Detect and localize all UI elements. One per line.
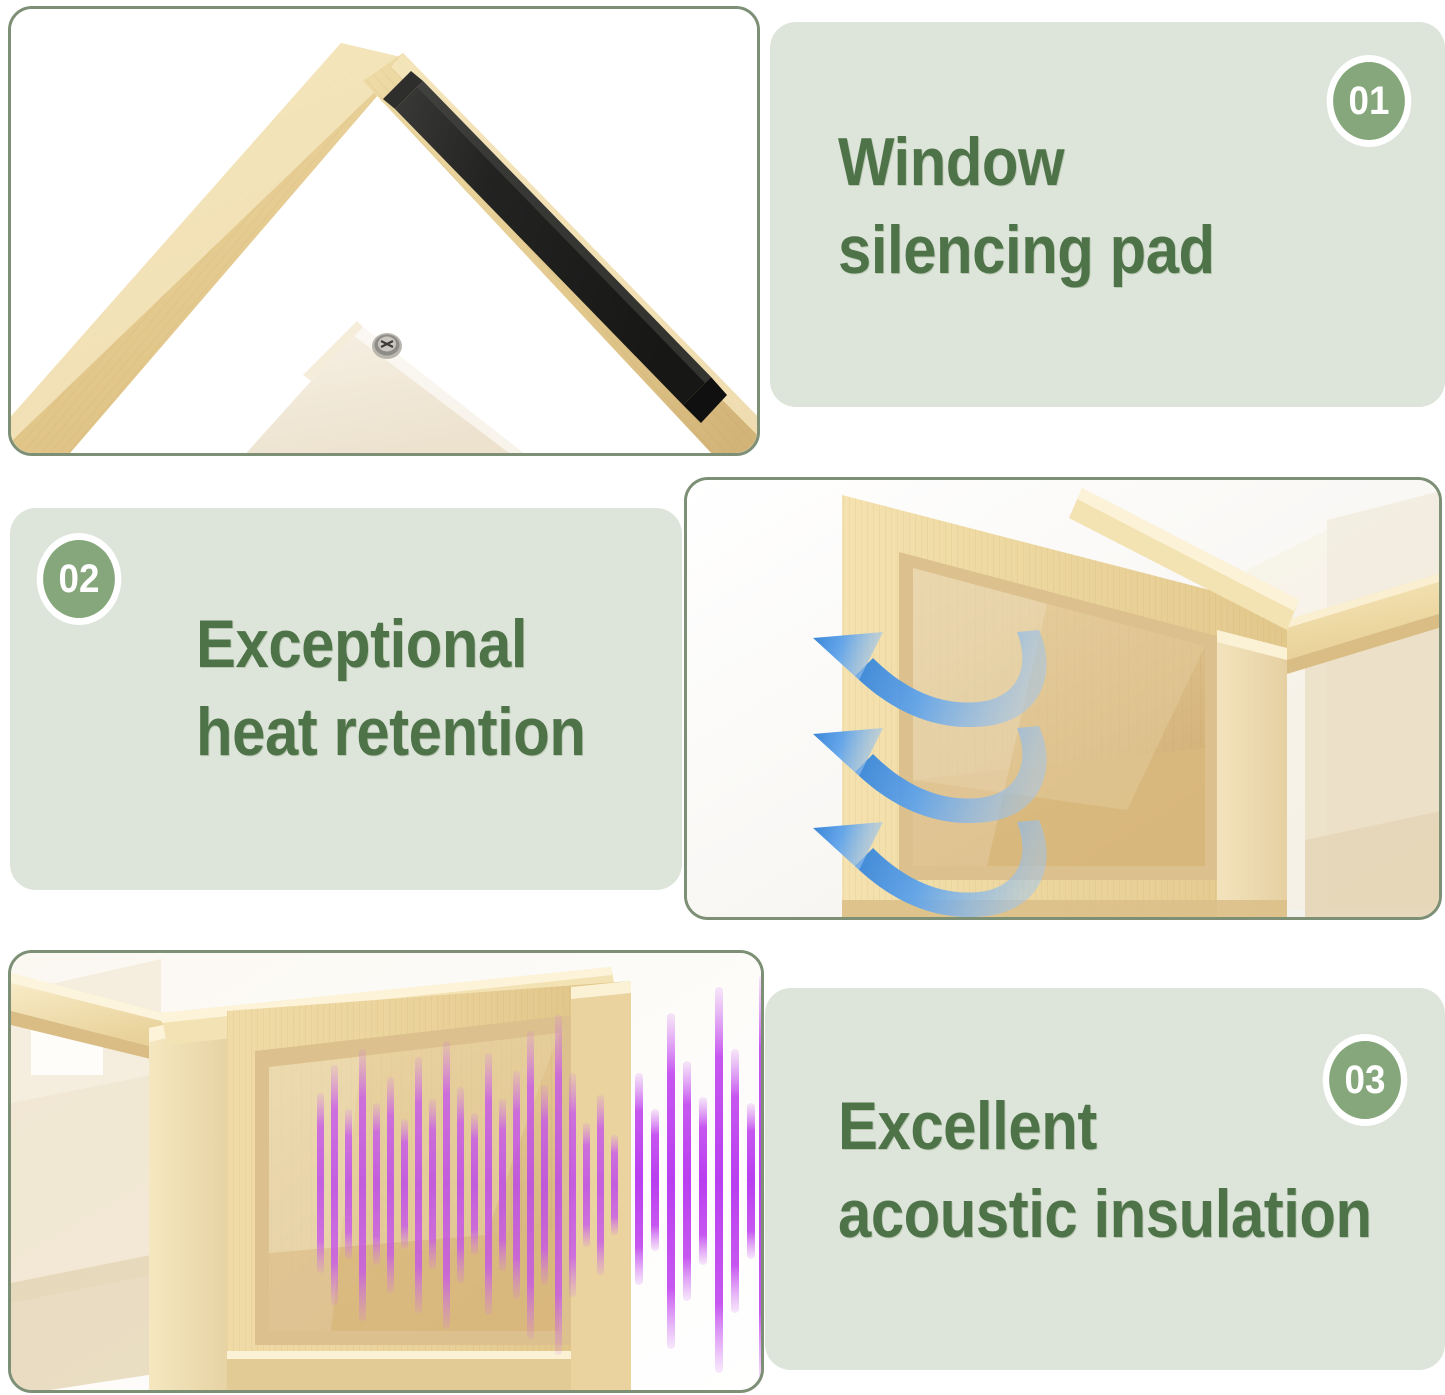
roof-corner-illustration xyxy=(11,9,760,456)
heat-flow-illustration xyxy=(687,480,1442,920)
headline-line: Window xyxy=(838,118,1215,206)
corner-post xyxy=(1217,630,1287,920)
infographic-root: Window silencing pad 01 xyxy=(0,0,1445,1395)
acoustic-insulation-photo xyxy=(8,950,764,1393)
feature-badge-02: 02 xyxy=(43,540,115,618)
feature-headline-01: Window silencing pad xyxy=(838,118,1215,294)
feature-badge-03: 03 xyxy=(1329,1041,1401,1119)
headline-line: heat retention xyxy=(196,688,585,776)
headline-line: silencing pad xyxy=(838,206,1215,294)
feature-badge-01: 01 xyxy=(1333,62,1405,140)
corner-post-left xyxy=(149,1011,227,1393)
feature-headline-03: Excellent acoustic insulation xyxy=(838,1082,1372,1258)
screw-icon xyxy=(372,333,402,359)
heat-retention-photo xyxy=(684,477,1442,920)
headline-line: Exceptional xyxy=(196,600,585,688)
headline-line: Excellent xyxy=(838,1082,1372,1170)
headline-line: acoustic insulation xyxy=(838,1170,1372,1258)
acrylic-window-3 xyxy=(255,1015,571,1345)
window-silencing-pad-photo xyxy=(8,6,760,456)
sound-wave-illustration xyxy=(11,953,764,1393)
feature-headline-02: Exceptional heat retention xyxy=(196,600,585,776)
